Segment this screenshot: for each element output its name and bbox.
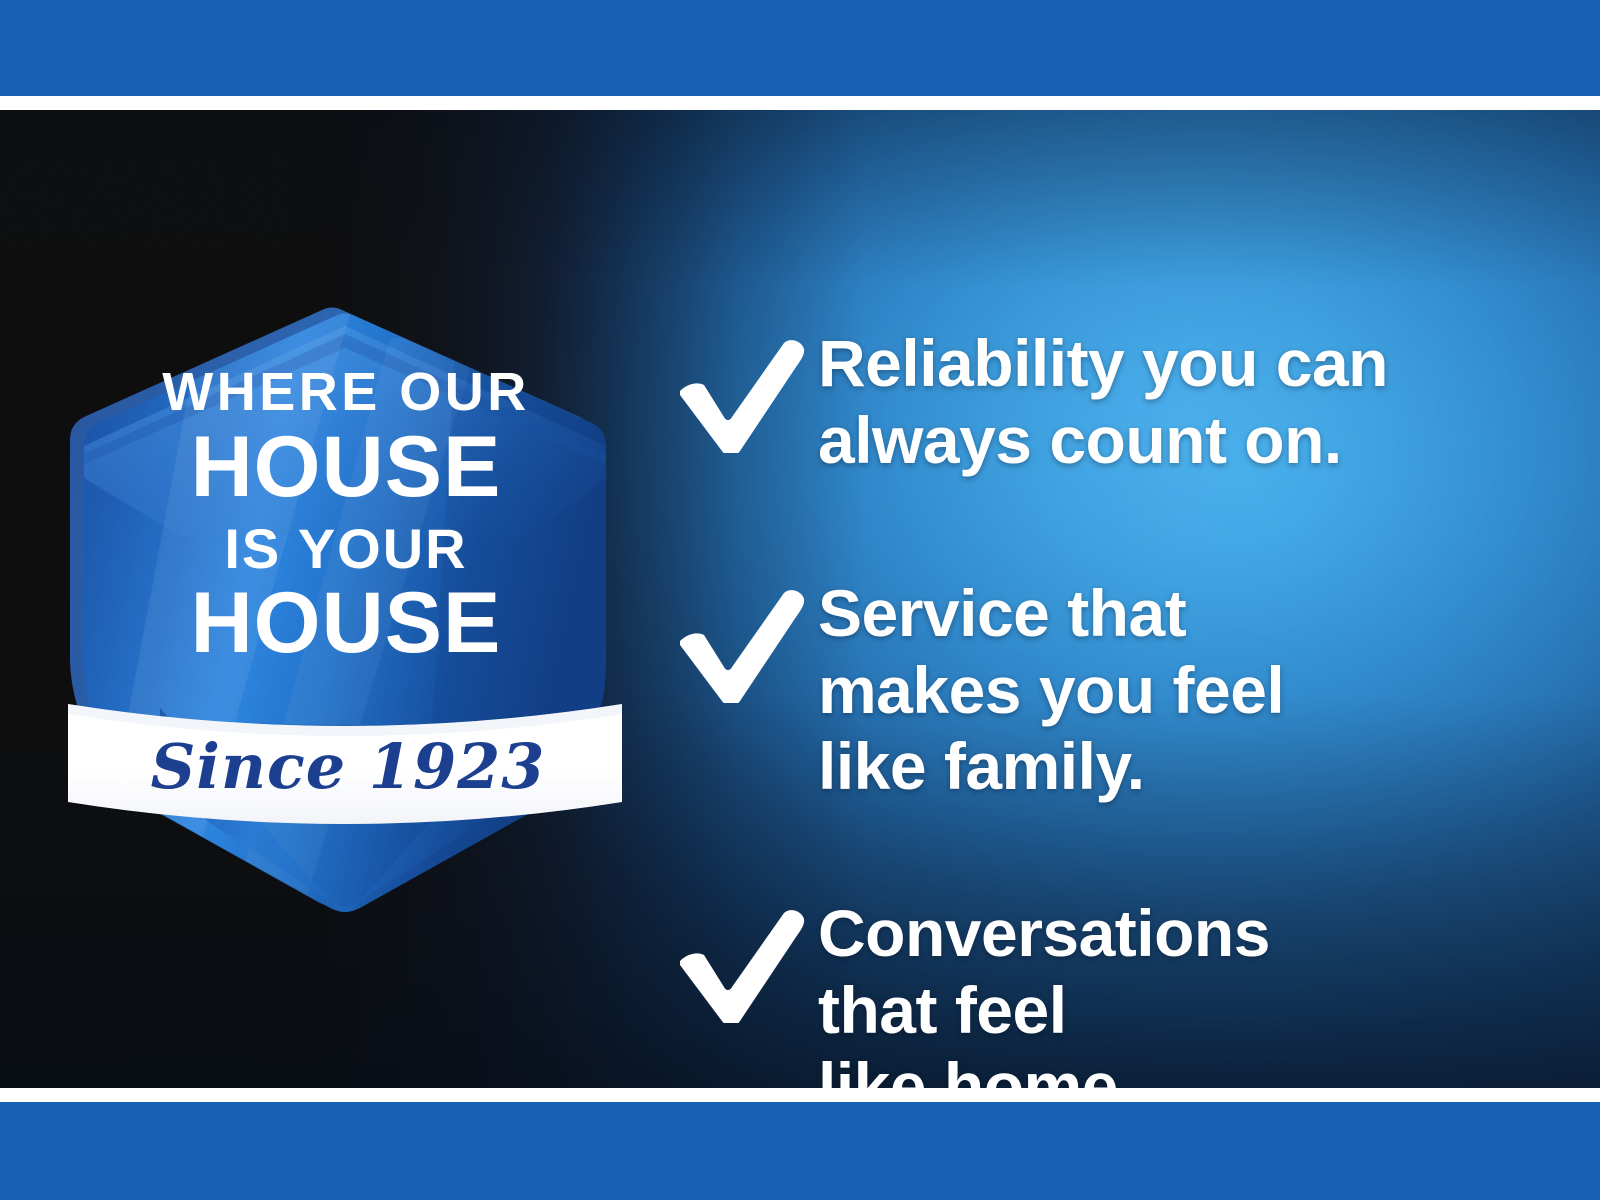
benefit-text-1: Reliability you can always count on. — [818, 325, 1388, 478]
shield-line-2: HOUSE — [191, 419, 502, 515]
top-white-rule — [0, 96, 1600, 110]
check-icon-3 — [668, 895, 818, 1023]
shield-line-4: HOUSE — [191, 575, 502, 671]
poster-stage: WHERE OUR HOUSE IS YOUR HOUSE Since 1923 — [0, 110, 1600, 1088]
banner-since-text: Since 1923 — [151, 730, 546, 803]
shield-line-1: WHERE OUR — [162, 362, 530, 422]
promo-poster: WHERE OUR HOUSE IS YOUR HOUSE Since 1923 — [0, 0, 1600, 1200]
check-icon-1 — [668, 325, 818, 453]
benefit-text-2: Service that makes you feel like family. — [818, 575, 1284, 805]
benefit-item-2: Service that makes you feel like family. — [668, 575, 1284, 805]
bottom-white-rule — [0, 1088, 1600, 1102]
benefit-item-3: Conversations that feel like home. — [668, 895, 1270, 1088]
benefit-text-3: Conversations that feel like home. — [818, 895, 1270, 1088]
benefits-list: Reliability you can always count on. Ser… — [668, 220, 1528, 1088]
shield-line-3: IS YOUR — [224, 517, 467, 580]
shield-emblem: WHERE OUR HOUSE IS YOUR HOUSE Since 1923 — [60, 278, 630, 918]
top-blue-band — [0, 0, 1600, 96]
bottom-blue-band — [0, 1102, 1600, 1200]
benefit-item-1: Reliability you can always count on. — [668, 325, 1388, 478]
check-icon-2 — [668, 575, 818, 703]
